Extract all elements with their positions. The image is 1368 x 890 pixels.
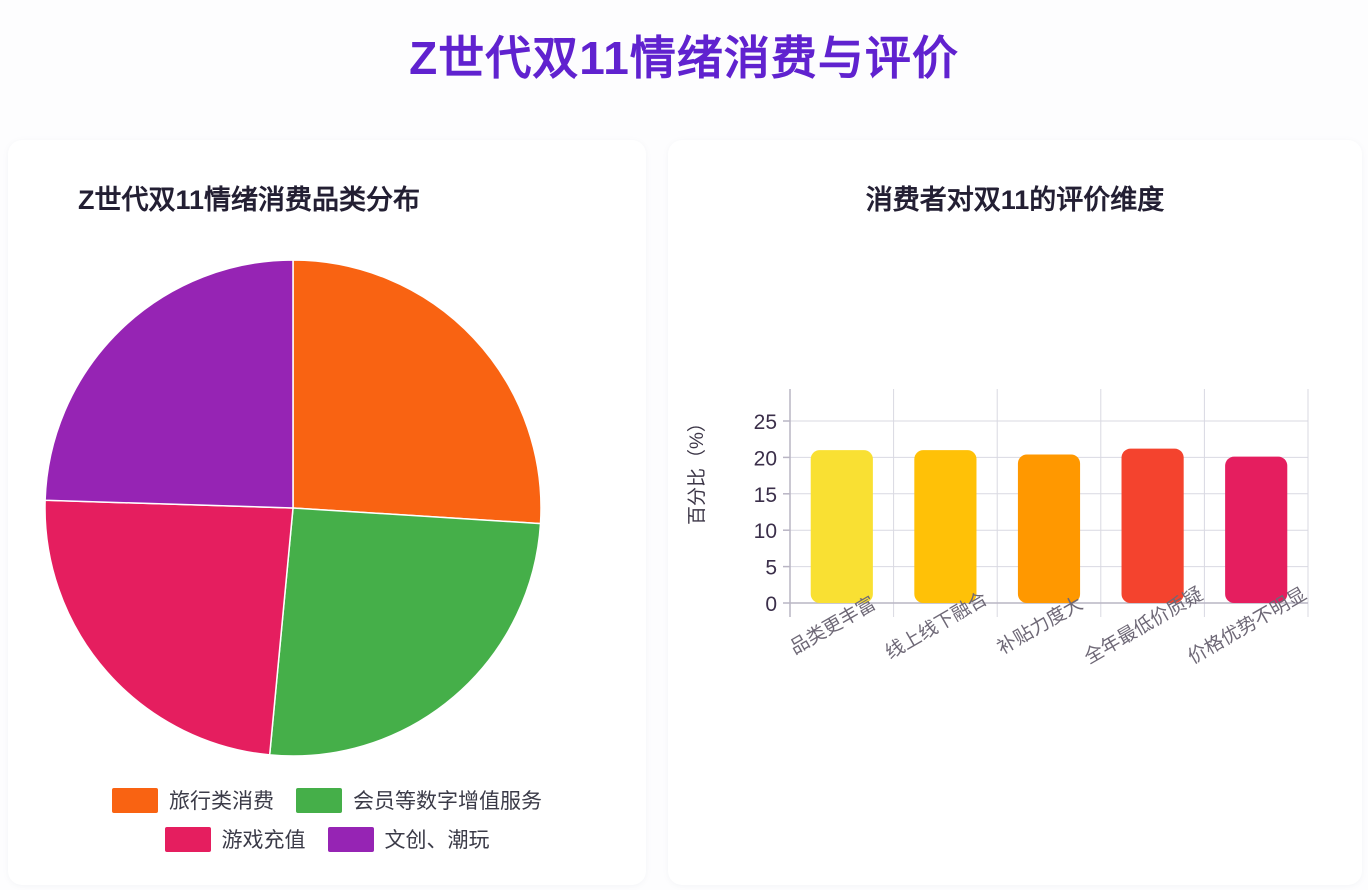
legend-item-travel[interactable]: 旅行类消费 — [112, 785, 274, 815]
legend-label-gaming: 游戏充值 — [222, 824, 306, 854]
bar-4[interactable] — [1225, 457, 1287, 603]
legend-label-culture: 文创、潮玩 — [385, 824, 490, 854]
legend-item-gaming[interactable]: 游戏充值 — [165, 824, 306, 854]
pie-slice-1[interactable] — [270, 508, 541, 756]
ytick-label: 20 — [754, 447, 777, 470]
legend-swatch-travel — [112, 788, 158, 813]
bar-chart-card: 消费者对双11的评价维度 百分比（%） 0510152025 品类更丰富线上线下… — [668, 140, 1362, 885]
bar-chart-title: 消费者对双11的评价维度 — [668, 178, 1362, 217]
legend-item-membership[interactable]: 会员等数字增值服务 — [296, 785, 542, 815]
bar-chart-svg: 0510152025 品类更丰富线上线下融合补贴力度大全年最低价质疑价格优势不明… — [668, 245, 1362, 725]
pie-slice-3[interactable] — [45, 260, 293, 508]
bar-2[interactable] — [1018, 454, 1080, 603]
legend-item-culture[interactable]: 文创、潮玩 — [328, 824, 490, 854]
ytick-label: 15 — [754, 484, 777, 507]
legend-swatch-membership — [296, 788, 342, 813]
page-title: Z世代双11情绪消费与评价 — [0, 22, 1368, 88]
pie-legend: 旅行类消费 会员等数字增值服务 游戏充值 文创、潮玩 — [8, 785, 646, 863]
bar-0[interactable] — [811, 450, 873, 603]
pie-chart-svg — [42, 255, 602, 780]
page-root: Z世代双11情绪消费与评价 Z世代双11情绪消费品类分布 旅行类消费 会员等数字… — [0, 0, 1368, 890]
bar-ytick-group: 0510152025 — [754, 411, 790, 616]
bar-rect-group — [811, 449, 1288, 603]
bar-chart: 百分比（%） 0510152025 品类更丰富线上线下融合补贴力度大全年最低价质… — [668, 245, 1362, 725]
legend-row-1: 旅行类消费 会员等数字增值服务 — [8, 785, 646, 815]
pie-slice-0[interactable] — [293, 260, 541, 524]
ytick-label: 10 — [754, 520, 777, 543]
legend-swatch-culture — [328, 827, 374, 852]
pie-chart-card: Z世代双11情绪消费品类分布 旅行类消费 会员等数字增值服务 — [8, 140, 646, 885]
ytick-label: 0 — [765, 593, 777, 616]
bar-1[interactable] — [914, 450, 976, 603]
legend-swatch-gaming — [165, 827, 211, 852]
pie-chart-title: Z世代双11情绪消费品类分布 — [78, 178, 420, 217]
legend-label-membership: 会员等数字增值服务 — [353, 785, 542, 815]
pie-slice-group — [45, 260, 541, 756]
pie-chart — [42, 255, 602, 780]
legend-row-2: 游戏充值 文创、潮玩 — [8, 824, 646, 854]
ytick-label: 5 — [765, 557, 777, 580]
bar-3[interactable] — [1122, 449, 1184, 603]
ytick-label: 25 — [754, 411, 777, 434]
legend-label-travel: 旅行类消费 — [169, 785, 274, 815]
pie-slice-2[interactable] — [45, 500, 293, 755]
